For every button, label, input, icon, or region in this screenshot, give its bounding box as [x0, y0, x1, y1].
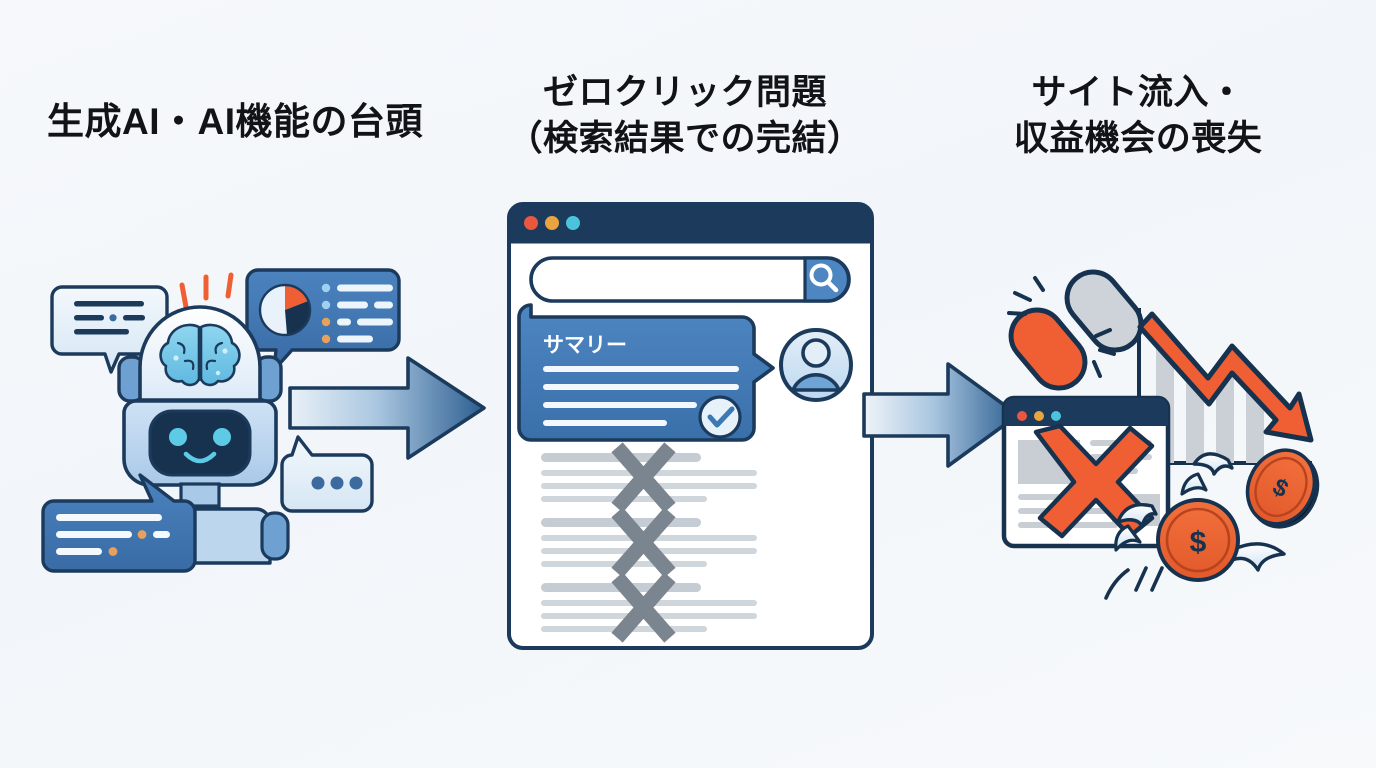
panel-right: サイト流入・ 収益機会の喪失	[900, 0, 1376, 768]
minimize-window-dot	[545, 216, 559, 230]
pie-chart-icon	[260, 285, 310, 335]
search-bar[interactable]	[531, 258, 849, 301]
flow-arrow-1	[288, 352, 488, 464]
brain-icon	[161, 325, 240, 385]
summary-card-label: サマリー	[543, 334, 627, 357]
maximize-window-dot	[566, 216, 580, 230]
panel-left-title: 生成AI・AI機能の台頭	[0, 98, 470, 147]
broken-chain-link-icon	[1000, 268, 1151, 399]
user-avatar-icon	[781, 330, 851, 400]
svg-text:$: $	[1190, 526, 1207, 559]
infographic-canvas: 生成AI・AI機能の台頭	[0, 0, 1376, 768]
panel-right-title: サイト流入・ 収益機会の喪失	[900, 70, 1376, 162]
chat-bubble-bottom-left	[43, 475, 195, 571]
ai-summary-card: サマリー	[519, 305, 773, 440]
motion-lines	[1106, 568, 1162, 598]
window-traffic-lights[interactable]	[524, 216, 580, 230]
close-window-dot	[524, 216, 538, 230]
panel-middle-title: ゼロクリック問題 （検索結果での完結）	[470, 70, 900, 162]
search-results-browser-window: サマリー	[505, 200, 880, 655]
traffic-and-revenue-loss: $ $	[1000, 268, 1376, 608]
panel-middle: ゼロクリック問題 （検索結果での完結）	[470, 0, 900, 768]
panel-left: 生成AI・AI機能の台頭	[0, 0, 470, 768]
check-icon	[700, 397, 740, 437]
